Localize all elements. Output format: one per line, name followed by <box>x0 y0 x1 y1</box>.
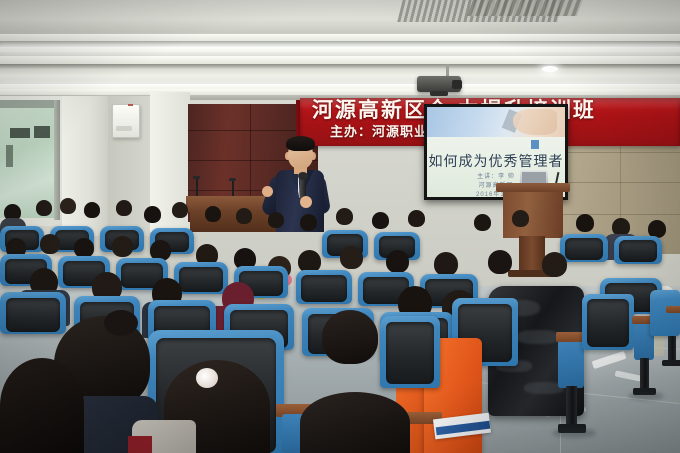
presenter-hand-left <box>262 186 273 197</box>
attendee-head-c9 <box>340 246 363 269</box>
attendee-head-foreground-1 <box>322 310 378 364</box>
slide-image-hand <box>513 109 557 135</box>
attendee-head-b13 <box>372 212 389 229</box>
cove-light-1 <box>0 47 680 52</box>
table-microphone-head-1 <box>193 176 200 179</box>
seat-armrest-3 <box>666 306 680 313</box>
white-flower-hairpin <box>196 368 218 388</box>
ceiling-cove-1 <box>0 34 680 41</box>
attendee-head-c12 <box>488 250 512 274</box>
attendee-head-c3 <box>74 238 94 258</box>
presenter-hair <box>286 136 315 151</box>
attendee-head-c10 <box>386 250 409 273</box>
attendee-head-b14 <box>408 210 425 227</box>
seat-pad-r2-4 <box>179 267 223 292</box>
ceiling-cove-shadow-2 <box>0 64 680 69</box>
glass-reflection-3 <box>6 145 13 167</box>
attendee-hair-bun <box>104 310 138 336</box>
attendee-head-b8 <box>205 206 221 222</box>
seat-leg-2 <box>640 358 649 390</box>
seat-pad-r2-6 <box>301 275 347 302</box>
ceiling-cove-3 <box>0 89 680 95</box>
attendee-head-b3 <box>60 198 76 214</box>
attendee-head-b4 <box>84 202 100 218</box>
attendee-red-scarf <box>128 436 152 453</box>
glass-reflection-2 <box>34 126 50 138</box>
glass-reflection-1 <box>10 128 30 138</box>
attendee-head-c2 <box>40 234 60 254</box>
seat-leg-3 <box>668 336 676 362</box>
seat-pad-r1-7 <box>565 238 603 260</box>
attendee-head-b12 <box>336 208 353 225</box>
attendee-head-b2 <box>36 200 52 216</box>
laptop-screen <box>522 172 546 183</box>
presenter-hand-right <box>300 196 312 208</box>
seat-pad-side-2 <box>587 299 629 347</box>
attendee-head-b16 <box>512 210 529 227</box>
attendee-head-b11 <box>300 214 317 231</box>
seat-pad-r3-1 <box>6 298 60 332</box>
seat-side-3 <box>650 290 680 336</box>
speaker-grille <box>116 126 132 131</box>
seat-pad-foreground-right <box>386 322 434 384</box>
podium-top-surface <box>496 183 570 192</box>
speaker-led <box>128 104 133 106</box>
ceiling-downlight <box>542 66 558 72</box>
attendee-head-b6 <box>144 206 161 223</box>
projector-foot <box>430 91 448 96</box>
table-microphone-2 <box>232 180 234 197</box>
attendee-head-c11 <box>434 252 458 276</box>
attendee-head-c4 <box>112 236 133 257</box>
attendee-head-c13 <box>542 252 567 277</box>
table-microphone-1 <box>196 178 198 197</box>
ceiling-air-vent-secondary <box>467 0 583 16</box>
wall-mounted-speaker-icon <box>112 104 140 138</box>
attendee-head-foreground-5 <box>300 392 410 453</box>
seat-shadow-1 <box>552 428 596 438</box>
photo-lecture-hall: 河源高新区企 力提升培训班 主办：河源职业 、西点管理学院 如何成为优秀管理者 … <box>0 0 680 453</box>
attendee-head-b15 <box>474 214 491 231</box>
table-microphone-head-2 <box>229 178 236 181</box>
glass-partition-header <box>0 100 60 108</box>
coat-fold-2 <box>516 330 560 344</box>
attendee-head-b7 <box>172 202 188 218</box>
seat-arm-side-panel-1 <box>558 336 584 388</box>
seat-foot-3 <box>662 360 680 366</box>
seat-leg-1 <box>566 386 577 426</box>
microphone-head <box>298 172 308 180</box>
projector-lens <box>452 80 462 89</box>
ceiling-cove-2 <box>0 56 680 64</box>
attendee-head-b17 <box>576 214 594 232</box>
slide-logo-icon <box>531 140 557 149</box>
glass-mullion <box>54 100 60 220</box>
seat-pad-r1-8 <box>619 240 657 262</box>
attendee-head-b10 <box>268 212 284 228</box>
attendee-head-b5 <box>116 200 132 216</box>
slide-title-text: 如何成为优秀管理者 <box>427 151 565 171</box>
attendee-head-foreground-3 <box>0 358 84 453</box>
seat-shadow-2 <box>628 392 664 400</box>
attendee-head-b9 <box>236 208 252 224</box>
